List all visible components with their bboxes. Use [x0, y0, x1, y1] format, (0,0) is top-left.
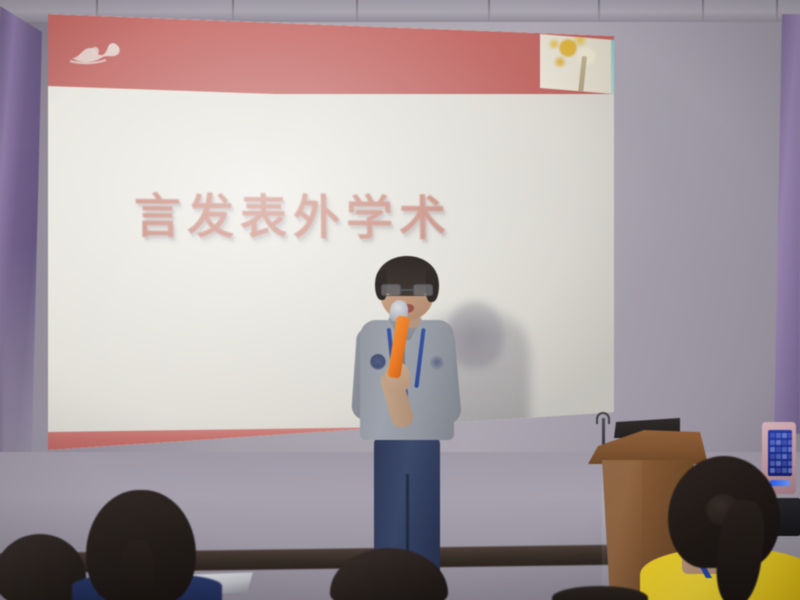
- av-panel-key[interactable]: [782, 454, 787, 459]
- av-panel-key[interactable]: [776, 433, 781, 438]
- screen-vignette: [48, 14, 614, 450]
- eyeglass-lens-left: [381, 284, 401, 296]
- podium-microphone: [602, 418, 605, 448]
- eyeglass-lens-right: [413, 284, 433, 296]
- lectern-highlight: [602, 460, 642, 600]
- av-panel-key[interactable]: [782, 433, 787, 438]
- av-panel-key[interactable]: [782, 468, 787, 473]
- ceiling-seam-2: [232, 0, 234, 22]
- av-panel-key[interactable]: [770, 454, 775, 459]
- lectern-desktop: [588, 430, 708, 464]
- av-panel-key[interactable]: [776, 440, 781, 445]
- av-panel-key[interactable]: [782, 440, 787, 445]
- shirt-logo-right: [430, 356, 444, 370]
- av-panel-key[interactable]: [788, 433, 792, 438]
- av-panel-key[interactable]: [776, 468, 781, 473]
- av-panel-key[interactable]: [782, 461, 787, 466]
- ceiling-seam-4: [488, 0, 490, 22]
- av-panel-key[interactable]: [770, 433, 775, 438]
- av-panel-key[interactable]: [770, 461, 775, 466]
- av-panel-key[interactable]: [788, 440, 792, 445]
- ceiling-seam-6: [702, 0, 704, 22]
- audience-ponytail-left: [120, 540, 154, 600]
- av-panel-screen[interactable]: [768, 430, 792, 476]
- lecture-hall-photo: 言发表外学术: [0, 0, 800, 600]
- av-panel-indicator: [770, 480, 790, 486]
- eyeglass-bridge: [401, 289, 413, 291]
- av-panel-key[interactable]: [776, 454, 781, 459]
- av-panel-key[interactable]: [788, 468, 792, 473]
- av-panel-key[interactable]: [776, 461, 781, 466]
- av-panel-key[interactable]: [770, 440, 775, 445]
- av-panel-key[interactable]: [788, 447, 792, 452]
- av-panel-key[interactable]: [788, 461, 792, 466]
- av-panel-key[interactable]: [782, 447, 787, 452]
- av-panel-key[interactable]: [770, 468, 775, 473]
- av-panel-key[interactable]: [770, 447, 775, 452]
- eyeglasses-icon: [380, 284, 434, 296]
- projection-screen[interactable]: 言发表外学术: [48, 14, 614, 450]
- ceiling-seam-7: [776, 0, 778, 22]
- shirt-logo-left: [370, 354, 386, 370]
- av-panel-key[interactable]: [788, 454, 792, 459]
- ceiling-seam-3: [356, 0, 358, 22]
- av-panel-key[interactable]: [776, 447, 781, 452]
- ceiling-seam-5: [598, 0, 600, 22]
